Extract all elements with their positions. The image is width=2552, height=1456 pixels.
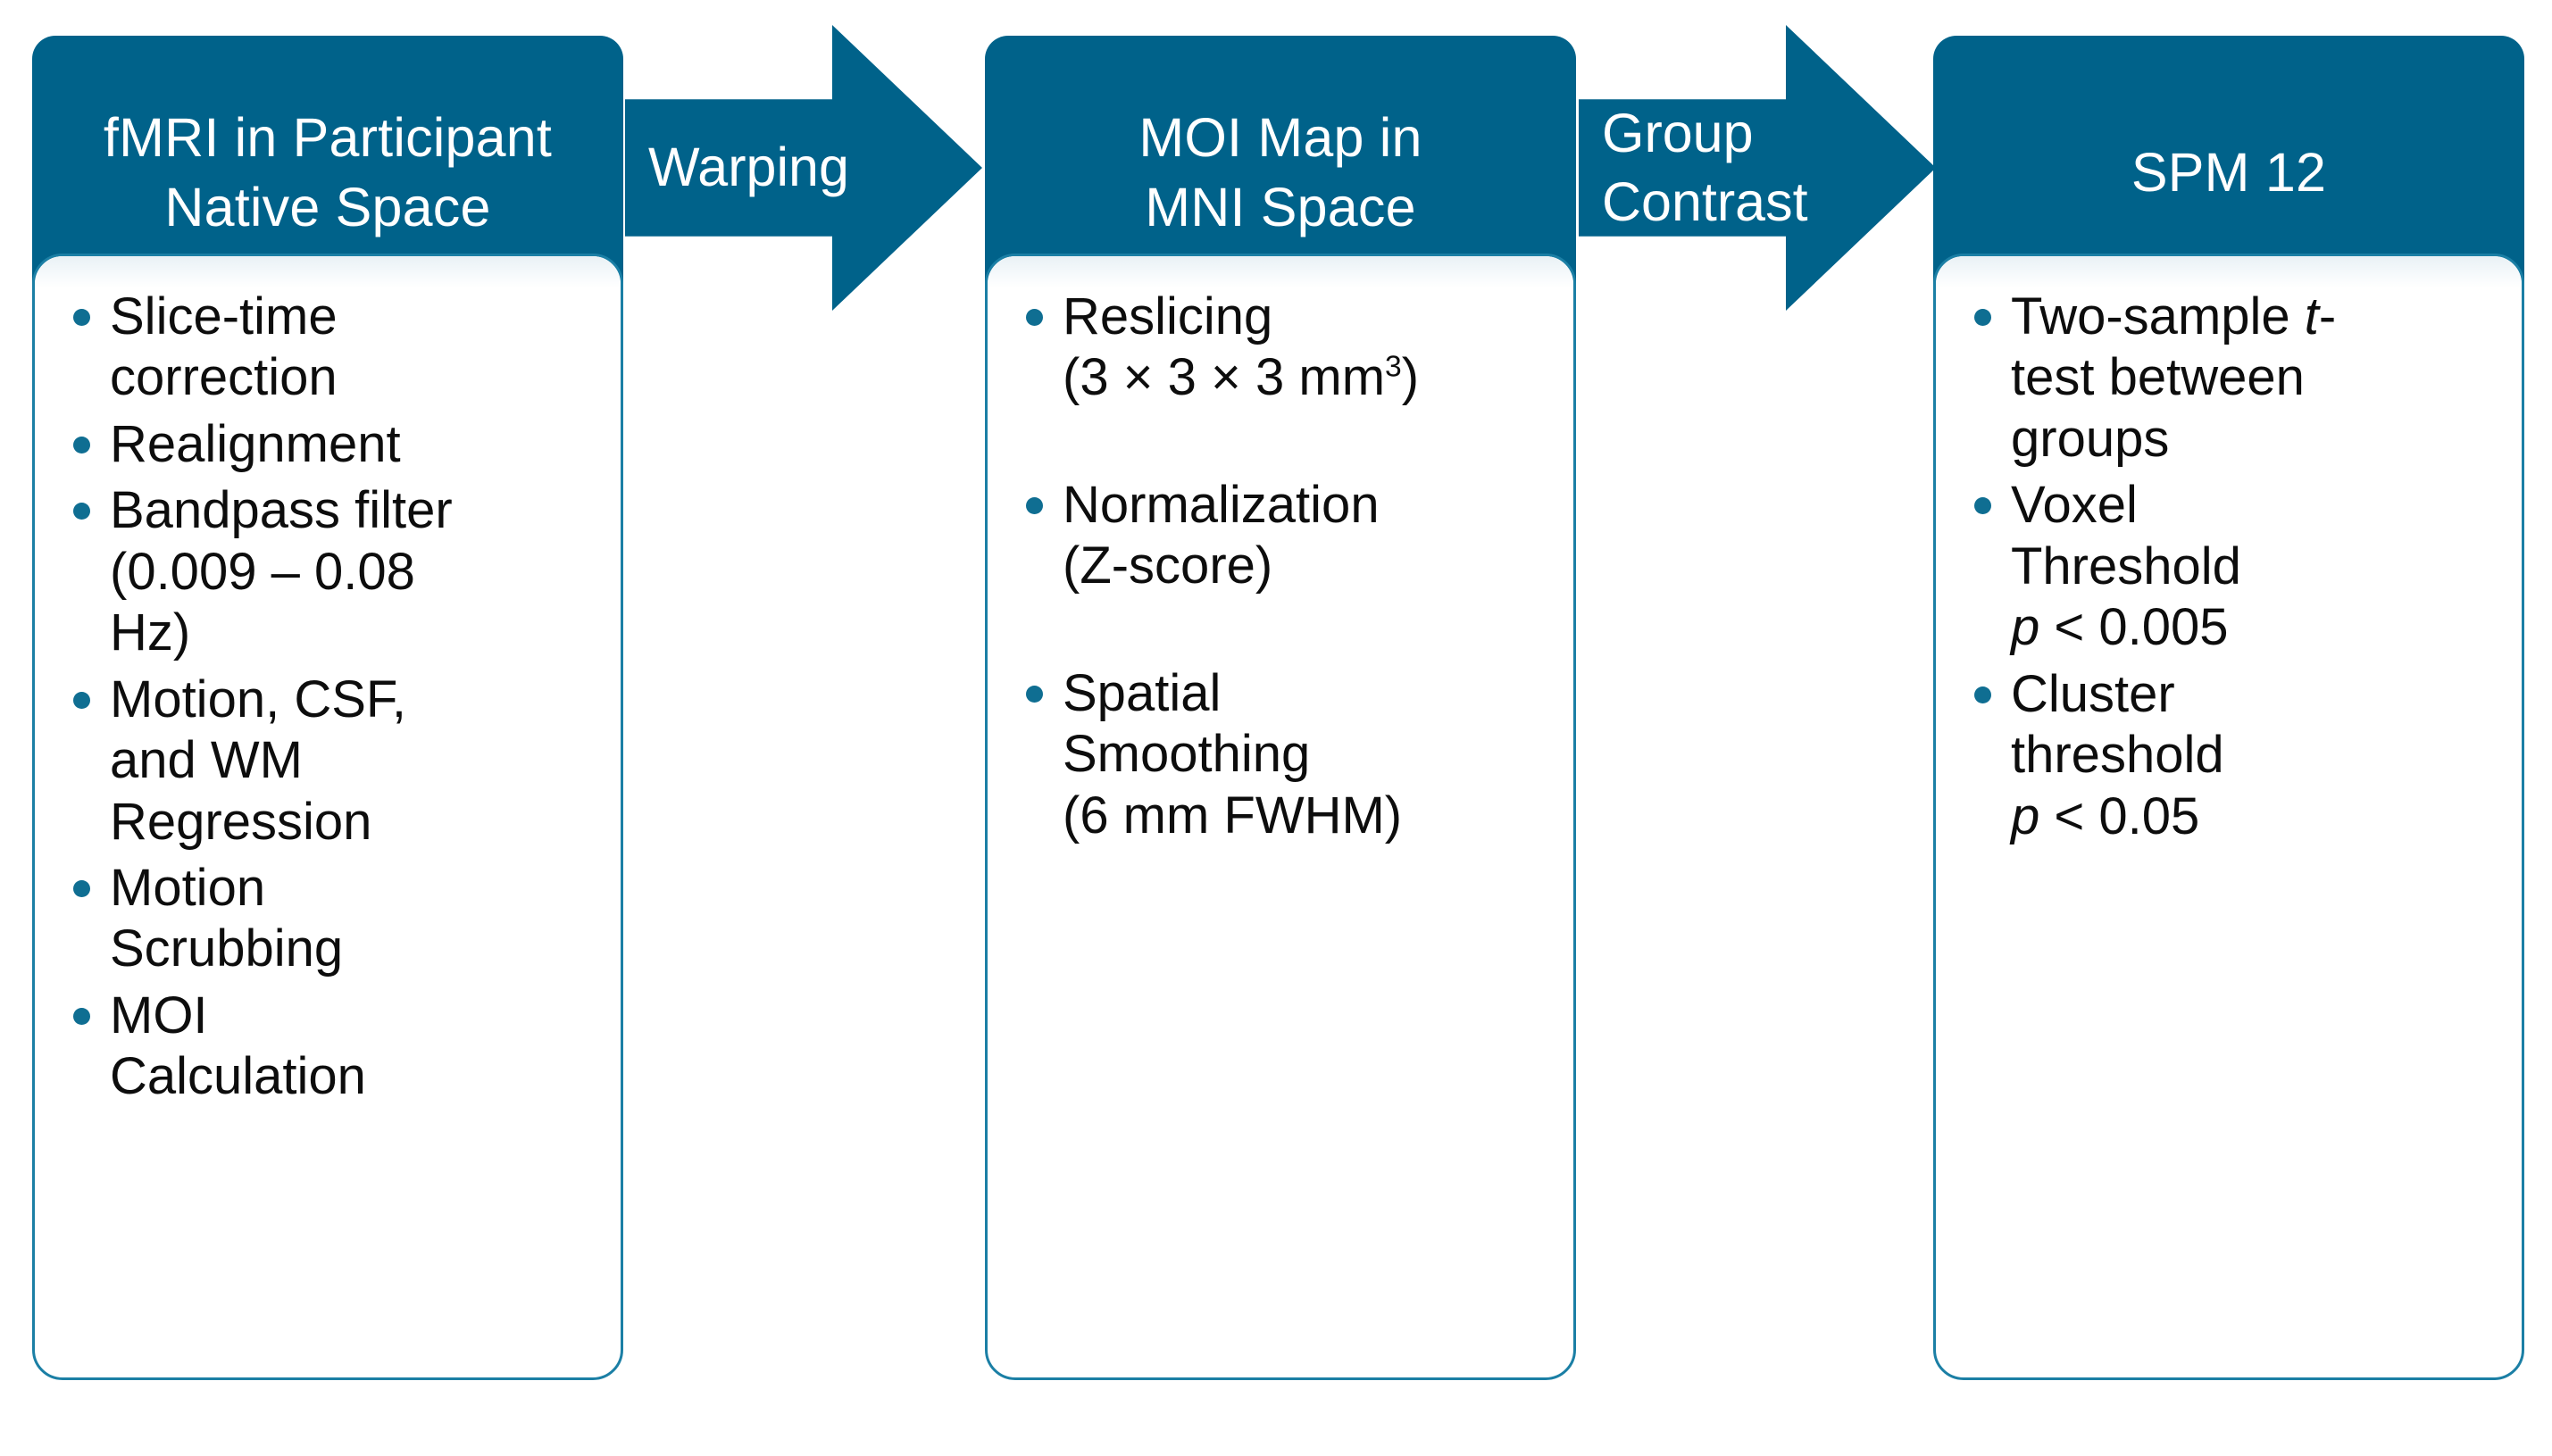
bullet-line: (0.009 – 0.08 <box>110 542 605 603</box>
arrow-group-contrast: Group Contrast <box>1579 25 1936 311</box>
arrow-label-line: Contrast <box>1602 168 1786 237</box>
arrow-label-group-contrast: Group Contrast <box>1579 99 1786 237</box>
arrow-label-warping: Warping <box>625 133 832 202</box>
bullet-list-spm-12: Two-sample t- test between groups Voxel … <box>1936 256 2522 861</box>
list-item: Motion Scrubbing <box>62 858 605 980</box>
bullet-line: Hz) <box>110 603 605 663</box>
bullet-dot-icon <box>73 503 90 520</box>
bullet-line: threshold <box>2011 725 2506 786</box>
bullet-line: Bandpass filter <box>110 480 605 541</box>
bullet-line: Realignment <box>110 414 605 475</box>
bullet-line: Two-sample t- <box>2011 287 2506 347</box>
bullet-dot-icon <box>1974 497 1991 514</box>
bullet-line: correction <box>110 347 605 408</box>
bullet-dot-icon <box>1026 497 1043 514</box>
bullet-line: p < 0.05 <box>2011 786 2506 847</box>
bullet-line: Motion, CSF, <box>110 670 605 730</box>
list-item: Motion, CSF, and WM Regression <box>62 670 605 853</box>
bullet-line: Slice-time <box>110 287 605 347</box>
bullet-dot-icon <box>73 880 90 897</box>
stage-header-line: Native Space <box>104 172 552 242</box>
list-item: Cluster threshold p < 0.05 <box>1963 664 2506 847</box>
pipeline-stage-spm-12: SPM 12 Two-sample t- test between groups… <box>1933 36 2524 1380</box>
bullet-list-native-space: Slice-time correction Realignment Bandpa… <box>35 256 621 1122</box>
bullet-line: and WM <box>110 730 605 791</box>
stage-header-line: SPM 12 <box>2131 137 2326 207</box>
bullet-dot-icon <box>1974 309 1991 326</box>
bullet-dot-icon <box>73 437 90 453</box>
bullet-dot-icon <box>73 309 90 326</box>
bullet-dot-icon <box>73 692 90 709</box>
list-item: Reslicing (3 × 3 × 3 mm3) <box>1014 287 1557 409</box>
bullet-line: Scrubbing <box>110 919 605 979</box>
bullet-dot-icon <box>1026 686 1043 703</box>
pipeline-stage-native-space: fMRI in Participant Native Space Slice-t… <box>32 36 623 1380</box>
bullet-line: Reslicing <box>1063 287 1557 347</box>
stage-header-line: MNI Space <box>1138 172 1422 242</box>
bullet-dot-icon <box>73 1008 90 1025</box>
arrow-label-line: Group <box>1602 99 1786 168</box>
bullet-line: (Z-score) <box>1063 536 1557 596</box>
list-item: Bandpass filter (0.009 – 0.08 Hz) <box>62 480 605 663</box>
bullet-line: test between <box>2011 347 2506 408</box>
bullet-line: p < 0.005 <box>2011 597 2506 658</box>
bullet-dot-icon <box>1974 686 1991 703</box>
pipeline-stage-mni-space: MOI Map in MNI Space Reslicing (3 × 3 × … <box>985 36 1576 1380</box>
bullet-line: Normalization <box>1063 475 1557 536</box>
list-item: Spatial Smoothing (6 mm FWHM) <box>1014 663 1557 846</box>
bullet-line: Smoothing <box>1063 724 1557 785</box>
arrow-warping: Warping <box>625 25 982 311</box>
stage-header-line: fMRI in Participant <box>104 103 552 172</box>
bullet-line: Threshold <box>2011 537 2506 597</box>
list-item: Voxel Threshold p < 0.005 <box>1963 475 2506 658</box>
bullet-line: Cluster <box>2011 664 2506 725</box>
list-item: MOI Calculation <box>62 986 605 1108</box>
bullet-list-mni-space: Reslicing (3 × 3 × 3 mm3) Normalization … <box>988 256 1573 921</box>
bullet-line: MOI <box>110 986 605 1046</box>
list-item: Slice-time correction <box>62 287 605 409</box>
bullet-dot-icon <box>1026 309 1043 326</box>
bullet-line: Regression <box>110 792 605 853</box>
bullet-line: Spatial <box>1063 663 1557 724</box>
stage-card-mni-space: Reslicing (3 × 3 × 3 mm3) Normalization … <box>985 254 1576 1380</box>
bullet-line: groups <box>2011 409 2506 470</box>
bullet-line: Motion <box>110 858 605 919</box>
arrow-label-line: Warping <box>648 133 832 202</box>
flowchart-diagram: fMRI in Participant Native Space Slice-t… <box>0 0 2552 1456</box>
list-item: Two-sample t- test between groups <box>1963 287 2506 470</box>
bullet-line: (3 × 3 × 3 mm3) <box>1063 347 1557 408</box>
bullet-line: (6 mm FWHM) <box>1063 786 1557 846</box>
bullet-line: Calculation <box>110 1046 605 1107</box>
list-item: Normalization (Z-score) <box>1014 475 1557 597</box>
stage-header-line: MOI Map in <box>1138 103 1422 172</box>
stage-card-spm-12: Two-sample t- test between groups Voxel … <box>1933 254 2524 1380</box>
bullet-line: Voxel <box>2011 475 2506 536</box>
list-item: Realignment <box>62 414 605 475</box>
stage-card-native-space: Slice-time correction Realignment Bandpa… <box>32 254 623 1380</box>
